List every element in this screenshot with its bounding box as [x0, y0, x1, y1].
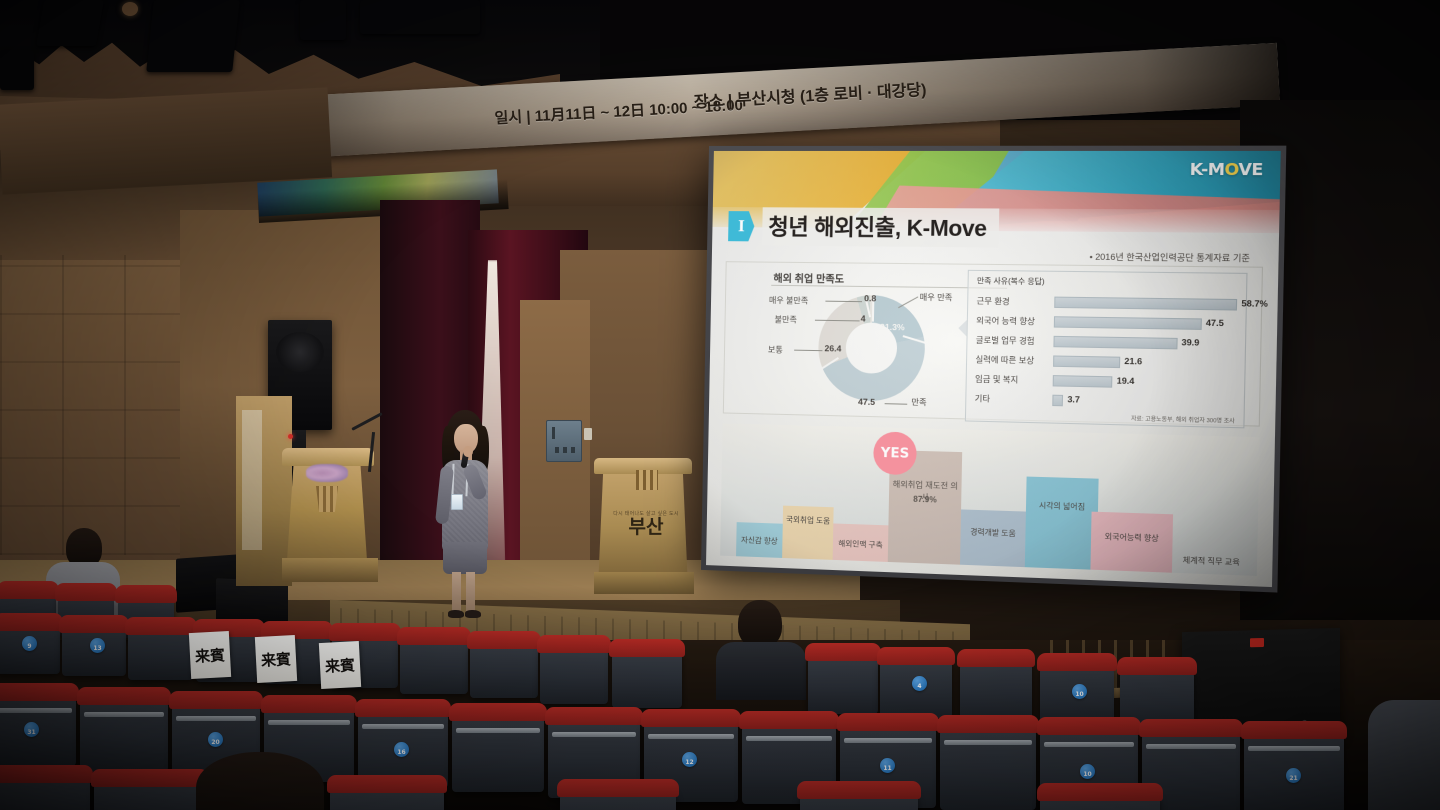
bar-row: 기타 3.7	[974, 389, 1235, 415]
podium-indicator-led	[288, 434, 293, 439]
screen-frame: K-MOVE I 청년 해외진출, K-Move • 2016년 한국산업인력공…	[701, 146, 1286, 593]
slide-title: 청년 해외진출, K-Move	[762, 207, 1000, 247]
seat[interactable]: 21	[1244, 730, 1344, 810]
block-label: 경력개발 도움	[961, 526, 1026, 540]
bar-fill	[1052, 395, 1063, 407]
seat-band	[1146, 744, 1236, 749]
busan-logo-subtitle: 다시 태어나도 살고 싶은 도시	[613, 510, 679, 517]
seat-band	[648, 734, 734, 739]
presenter	[432, 410, 498, 620]
seat[interactable]: 31	[0, 692, 76, 766]
bar-label: 외국어 능력 향상	[976, 315, 1054, 328]
donut-leader-line	[885, 403, 908, 405]
seat-headrest	[1037, 783, 1163, 801]
seat-headrest	[739, 711, 839, 729]
seat-headrest	[937, 715, 1039, 733]
podium-left-stripe	[316, 486, 338, 512]
seat-band	[552, 732, 636, 737]
banner-location: 장소 | 부산시청 (1층 로비 · 대강당)	[693, 76, 927, 113]
bar-label: 근무 환경	[976, 296, 1054, 308]
seat-headrest	[397, 627, 471, 645]
seat-headrest	[0, 613, 63, 631]
seat[interactable]: 4	[880, 656, 952, 718]
seat[interactable]	[612, 648, 682, 708]
bar-chart-title-sub: (복수 응답)	[1008, 276, 1045, 286]
bar-label: 실력에 따른 보상	[975, 354, 1053, 367]
presenter-hand	[463, 446, 473, 457]
seat[interactable]: 9	[0, 622, 60, 674]
bar-track: 47.5	[1054, 316, 1237, 330]
seat-headrest	[877, 647, 955, 665]
block-label: 체계적 직무 교육	[1166, 554, 1258, 569]
seat-headrest	[355, 699, 451, 717]
seat-band	[362, 724, 444, 729]
bar-track: 58.7%	[1054, 297, 1237, 311]
bar-label: 기타	[975, 393, 1053, 406]
seat-headrest	[261, 695, 357, 713]
seat-number-badge: 4	[912, 676, 927, 691]
seat-headrest	[797, 781, 921, 799]
seat-number-badge: 10	[1072, 684, 1087, 699]
podium-left-base	[282, 558, 378, 582]
donut-value-dissatisfied: 4	[861, 313, 866, 323]
seat-headrest	[77, 687, 171, 705]
donut-chart-title: 해외 취업 만족도	[773, 270, 844, 286]
bar-fill	[1053, 375, 1113, 388]
seat-headrest	[1117, 657, 1197, 675]
section-number-badge: I	[728, 211, 755, 241]
block-label: 시각의 넓어짐	[1026, 499, 1098, 513]
bar-value: 58.7%	[1241, 298, 1268, 309]
donut-value-satisfied: 47.5	[858, 396, 875, 407]
kmove-logo-k: K-M	[1189, 159, 1224, 179]
seat-headrest	[609, 639, 685, 657]
block-language-skill: 외국어능력 향상	[1090, 512, 1173, 573]
bar-track: 21.6	[1053, 355, 1236, 370]
donut-label-very-satisfied: 매우 만족	[920, 292, 953, 304]
podium-left-panel	[242, 410, 262, 550]
seat[interactable]	[470, 640, 538, 698]
lower-blocks-section: YES 자신감 향상 국외취업 도움 해외인맥 구축 해외취업 재도전 의사 8…	[720, 423, 1259, 575]
presentation-slide: K-MOVE I 청년 해외진출, K-Move • 2016년 한국산업인력공…	[706, 151, 1281, 587]
bar-chart-title: 만족 사유(복수 응답)	[977, 275, 1045, 287]
block-label: 해외인맥 구축	[833, 538, 888, 551]
bar-label: 글로벌 업무 경험	[976, 335, 1054, 348]
seat-number-badge: 20	[208, 732, 223, 747]
stage-light-rig	[0, 50, 34, 90]
seat-band	[1044, 742, 1134, 747]
seat-band	[456, 728, 540, 733]
wall-control-panel	[546, 420, 582, 462]
donut-value-neutral: 26.4	[824, 343, 841, 353]
seat-headrest	[1037, 653, 1117, 671]
block-overseas-employment-help: 국외취업 도움	[782, 506, 834, 560]
seat-band	[176, 716, 256, 721]
seat-number-badge: 9	[22, 636, 37, 651]
satisfaction-reasons-bar-chart: 만족 사유(복수 응답) 근무 환경 58.7% 외국어 능력 향상	[965, 270, 1248, 429]
projection-screen: K-MOVE I 청년 해외진출, K-Move • 2016년 한국산업인력공…	[701, 146, 1286, 593]
seat-number-badge: 13	[90, 638, 105, 653]
seat[interactable]	[452, 712, 544, 792]
seat[interactable]	[940, 724, 1036, 810]
audience-member-foreground-left	[196, 752, 326, 810]
stage-light-rig	[360, 0, 480, 34]
slide-title-row: I 청년 해외진출, K-Move	[728, 207, 1000, 247]
seat-headrest	[115, 585, 177, 603]
seat-headrest	[467, 631, 541, 649]
seat[interactable]	[128, 626, 194, 680]
presenter-skirt	[443, 542, 487, 574]
podium-right-stripe	[636, 470, 658, 490]
block-label: 외국어능력 향상	[1091, 530, 1173, 544]
kmove-logo-o: O	[1224, 159, 1238, 179]
donut-label-neutral: 보통	[768, 344, 783, 355]
kmove-logo-ve: VE	[1238, 159, 1263, 179]
seat[interactable]	[80, 696, 168, 772]
banner-left-mask	[0, 87, 332, 194]
kmove-logo: K-MOVE	[1189, 159, 1263, 179]
bar-label: 임금 및 복지	[975, 373, 1053, 386]
bar-value: 19.4	[1117, 375, 1135, 386]
seat[interactable]: 13	[62, 624, 126, 676]
bar-fill	[1053, 336, 1177, 350]
seat[interactable]	[400, 636, 468, 694]
seat-headrest	[449, 703, 547, 721]
block-systematic-training: 체계적 직무 교육	[1165, 550, 1257, 576]
block-label: 국외취업 도움	[783, 514, 834, 527]
seat-headrest	[0, 765, 93, 783]
audience-head	[196, 752, 324, 810]
donut-value-very-satisfied: 21.3%	[880, 322, 905, 333]
donut-leader-line	[898, 296, 918, 308]
seat-band	[746, 736, 832, 741]
seat-band	[844, 738, 932, 743]
seat[interactable]	[808, 652, 878, 714]
seat-headrest	[641, 709, 741, 727]
ceiling-lamp	[122, 2, 138, 16]
reserved-seat-paper: 来賓	[319, 641, 361, 689]
stage-light-rig	[300, 0, 346, 40]
bar-fill	[1053, 355, 1120, 368]
stage-light-rig	[146, 0, 240, 72]
seat-headrest	[59, 615, 129, 633]
podium-left-emblem	[306, 464, 348, 482]
seat-headrest	[0, 581, 59, 599]
bar-value: 3.7	[1067, 394, 1080, 405]
bar-value: 39.9	[1181, 337, 1199, 348]
presenter-id-badge	[451, 494, 463, 510]
seat-band	[944, 740, 1032, 745]
block-confidence: 자신감 향상	[736, 522, 783, 558]
seat-headrest	[55, 583, 117, 601]
bar-chart-title-main: 만족 사유	[977, 276, 1008, 286]
seat-band	[0, 708, 72, 713]
bar-track: 3.7	[1052, 395, 1235, 411]
seat-headrest	[1037, 717, 1141, 735]
auditorium-photo: 일시 | 11月11日 ~ 12日 10:00 ~ 18:00 장소 | 부산시…	[0, 0, 1440, 810]
seat[interactable]	[540, 644, 608, 704]
donut-label-dissatisfied: 불만족	[774, 314, 796, 325]
seat[interactable]	[330, 784, 444, 810]
seat-headrest	[545, 707, 643, 725]
donut-label-very-dissatisfied: 매우 불만족	[769, 295, 809, 307]
seat-headrest	[0, 683, 79, 701]
bar-fill	[1054, 316, 1202, 330]
donut-value-very-dissatisfied: 0.8	[864, 293, 876, 303]
busan-city-logo: 다시 태어나도 살고 싶은 도시 부산	[612, 500, 680, 546]
bar-track: 19.4	[1053, 375, 1236, 390]
seat-headrest	[805, 643, 881, 661]
seat[interactable]	[94, 778, 206, 810]
seat[interactable]	[960, 658, 1032, 722]
bar-fill	[1054, 297, 1237, 311]
audience-shoulder	[1368, 700, 1440, 810]
donut-leader-line	[794, 350, 822, 352]
seat-headrest	[329, 623, 401, 641]
bar-value: 47.5	[1206, 317, 1224, 328]
stage-light-rig	[36, 0, 104, 46]
seat-headrest	[91, 769, 209, 787]
slide-note: • 2016년 한국산업인력공단 통계자료 기준	[1089, 250, 1250, 264]
satisfaction-donut-chart: 해외 취업 만족도 매우 불만족 0.8 불만족 4 보통 26.4	[765, 270, 962, 421]
busan-logo-text: 부산	[629, 518, 664, 537]
seat[interactable]	[1040, 792, 1160, 810]
reserved-seat-paper: 来賓	[189, 631, 231, 679]
block-career-development: 경력개발 도움	[960, 509, 1026, 567]
seat-band	[1248, 746, 1340, 751]
seat-headrest	[537, 635, 611, 653]
bar-chart-source: 자료: 고용노동부, 해외 취업자 300명 조사	[1131, 414, 1235, 425]
donut-label-satisfied: 만족	[911, 397, 926, 409]
seat[interactable]	[560, 788, 676, 810]
seat[interactable]	[800, 790, 918, 810]
seat-number-badge: 10	[1080, 764, 1095, 779]
block-overseas-network: 해외인맥 구축	[833, 523, 889, 562]
seat-band	[268, 720, 350, 725]
seat-number-badge: 11	[880, 758, 895, 773]
seat-headrest	[837, 713, 939, 731]
reserved-seat-paper: 来賓	[255, 635, 297, 683]
seat-number-badge: 21	[1286, 768, 1301, 783]
wall-light-switch	[584, 428, 592, 440]
seat-headrest	[1241, 721, 1347, 739]
seat-headrest	[169, 691, 263, 709]
bar-track: 39.9	[1053, 336, 1236, 351]
seat-band	[84, 712, 164, 717]
block-value: 87.9%	[889, 493, 962, 507]
seat-headrest	[557, 779, 679, 797]
bar-rows: 근무 환경 58.7% 외국어 능력 향상 47.5	[974, 291, 1237, 414]
seat[interactable]	[0, 774, 90, 810]
audience-member-foreground-right	[1368, 700, 1440, 810]
seat-headrest	[957, 649, 1035, 667]
block-broader-perspective: 시각의 넓어짐	[1025, 477, 1099, 570]
seat-headrest	[1139, 719, 1243, 737]
seat-number-badge: 31	[24, 722, 39, 737]
seat-number-badge: 16	[394, 742, 409, 757]
bar-value: 21.6	[1124, 356, 1142, 367]
seat-headrest	[327, 775, 447, 793]
seat-headrest	[125, 617, 197, 635]
seat-number-badge: 12	[682, 752, 697, 767]
block-label: 자신감 향상	[736, 534, 782, 547]
podium-right-base	[594, 572, 694, 594]
